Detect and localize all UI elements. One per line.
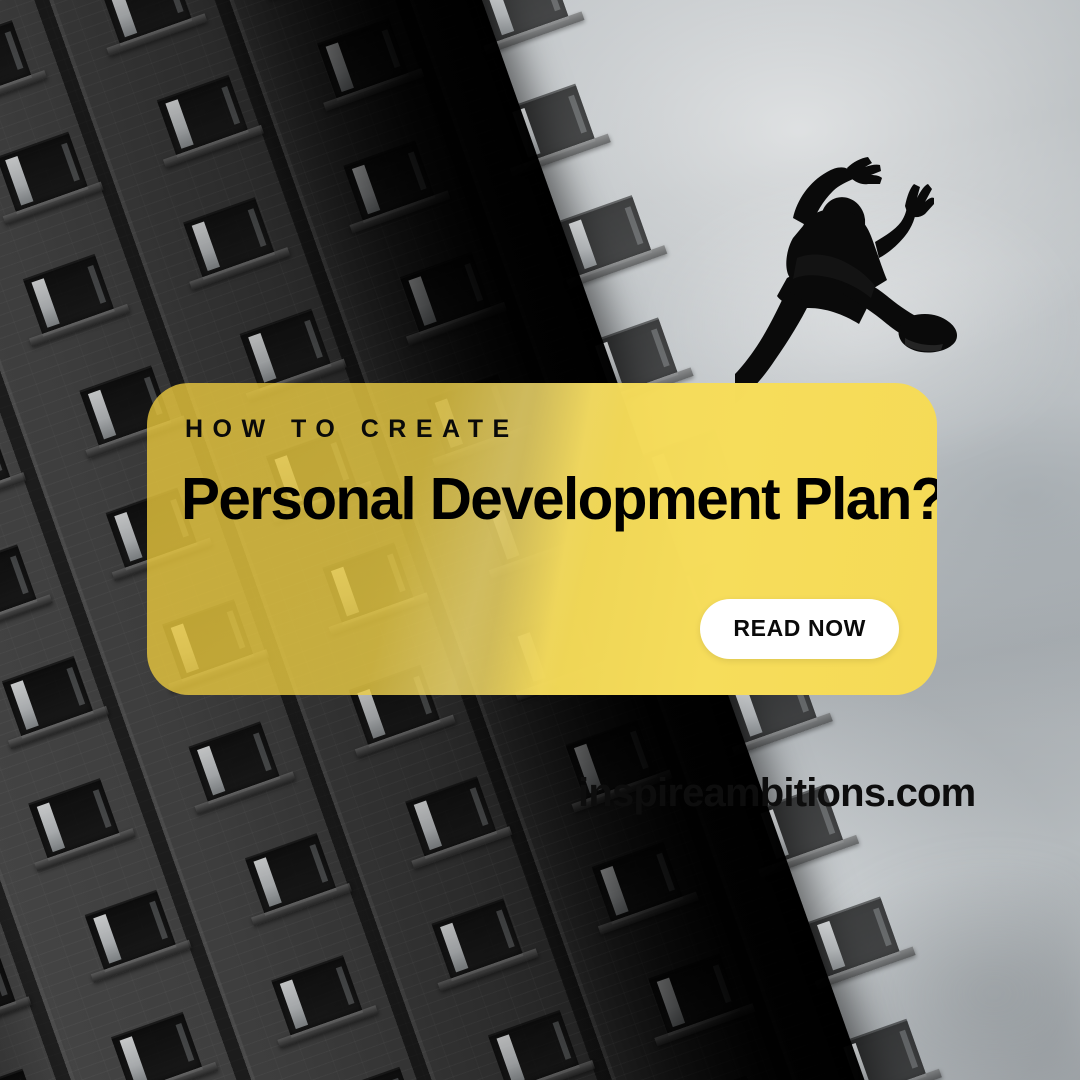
jumping-man-silhouette — [735, 138, 985, 418]
card-eyebrow: HOW TO CREATE — [185, 415, 519, 444]
building-window — [328, 1069, 418, 1080]
card-headline: Personal Development Plan? — [181, 465, 937, 533]
card-content: HOW TO CREATE Personal Development Plan?… — [147, 383, 937, 695]
building-window — [0, 424, 10, 502]
read-now-button[interactable]: READ NOW — [700, 599, 899, 659]
building-window — [112, 1014, 202, 1080]
promo-graphic-canvas: HOW TO CREATE Personal Development Plan?… — [0, 0, 1080, 1080]
site-url[interactable]: inspireambitions.com — [578, 771, 975, 816]
promo-card: HOW TO CREATE Personal Development Plan?… — [147, 383, 937, 695]
